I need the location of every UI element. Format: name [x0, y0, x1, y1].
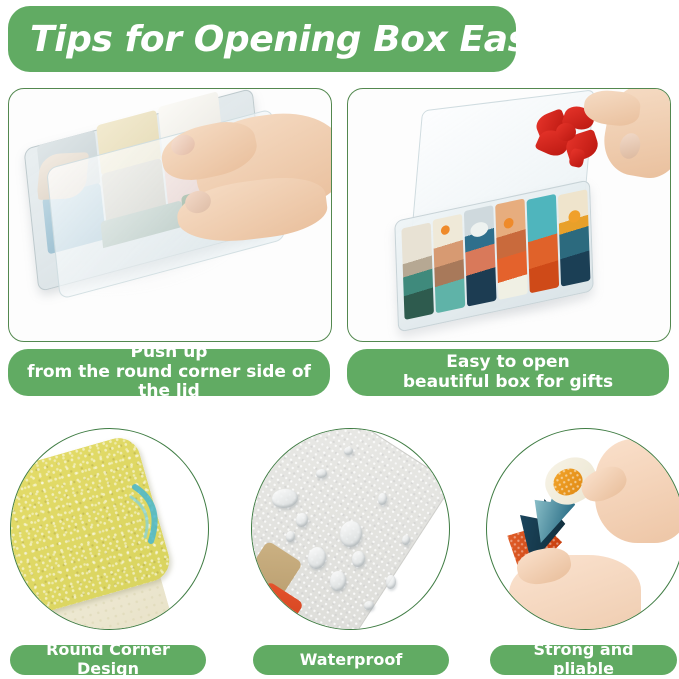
feature-circle-round-corner: [10, 428, 209, 630]
caption-label: Round Corner Design: [24, 641, 192, 678]
caption-strong-and-pliable: Strong and pliable: [490, 645, 677, 675]
caption-easy-to-open: Easy to open beautiful box for gifts: [347, 349, 669, 396]
photo-panel-push-up: [8, 88, 332, 342]
landscape-tab-1: [401, 222, 434, 320]
caption-round-corner-design: Round Corner Design: [10, 645, 206, 675]
caption-label: Strong and pliable: [504, 641, 663, 678]
caption-line-2: beautiful box for gifts: [403, 373, 613, 393]
title-banner: Tips for Opening Box Easily: [8, 6, 516, 72]
highlight-arc-icon: [129, 481, 173, 547]
landscape-tab-6: [558, 189, 591, 287]
feature-circle-strong-pliable: [486, 428, 679, 630]
caption-waterproof: Waterproof: [253, 645, 449, 675]
landscape-tab-5: [527, 194, 560, 294]
landscape-tab-3: [464, 205, 497, 307]
feature-circle-waterproof: [251, 428, 450, 630]
caption-line-1: Push up: [22, 343, 316, 363]
caption-line-2: from the round corner side of the lid: [22, 363, 316, 402]
product-infographic: Tips for Opening Box Easily: [0, 0, 679, 676]
caption-line-1: Easy to open: [403, 353, 613, 373]
landscape-tab-4: [495, 198, 528, 300]
photo-panel-gift-box: [347, 88, 671, 342]
page-title: Tips for Opening Box Easily: [30, 19, 576, 60]
water-droplet: [386, 575, 396, 589]
caption-label: Waterproof: [300, 651, 403, 670]
caption-push-up: Push up from the round corner side of th…: [8, 349, 330, 396]
